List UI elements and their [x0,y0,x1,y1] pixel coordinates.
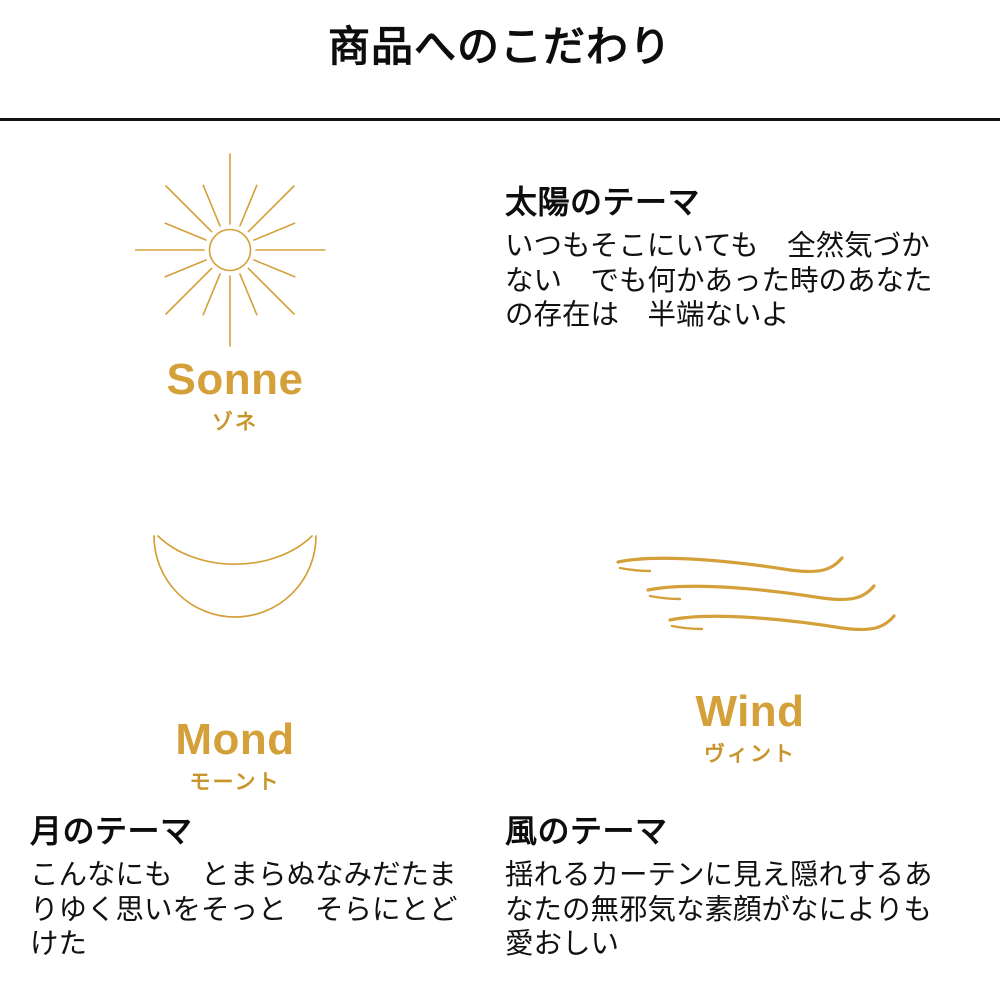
sun-body: いつもそこにいても 全然気づかない でも何かあった時のあなたの存在は 半端ないよ [505,229,955,332]
wind-icon-block: Wind ヴィント [560,540,940,765]
moon-icon-name: Mond [60,718,410,762]
wind-icon-name: Wind [560,690,940,734]
crescent-moon-icon [125,528,345,696]
sun-icon [135,148,335,348]
moon-icon-kana: モーント [60,772,410,793]
sun-icon-kana: ゾネ [60,412,410,433]
moon-body: こんなにも とまらぬなみだたまりゆく思いをそっと そらにとどけた [30,858,480,961]
wind-text-block: 風のテーマ 揺れるカーテンに見え隠れするあなたの無邪気な素顔がなによりも愛おしい [505,812,955,962]
wind-lines-icon [600,540,900,650]
sun-icon-name: Sonne [60,358,410,402]
sun-text-block: 太陽のテーマ いつもそこにいても 全然気づかない でも何かあった時のあなたの存在… [505,183,955,333]
page-title: 商品へのこだわり [0,22,1000,72]
moon-text-block: 月のテーマ こんなにも とまらぬなみだたまりゆく思いをそっと そらにとどけた [30,812,480,962]
sun-icon-block: Sonne ゾネ [60,148,410,433]
sun-heading: 太陽のテーマ [505,183,955,221]
title-divider [0,118,1000,121]
moon-heading: 月のテーマ [30,812,480,850]
wind-body: 揺れるカーテンに見え隠れするあなたの無邪気な素顔がなによりも愛おしい [505,858,955,961]
wind-heading: 風のテーマ [505,812,955,850]
moon-icon-block: Mond モーント [60,528,410,793]
wind-icon-kana: ヴィント [560,744,940,765]
